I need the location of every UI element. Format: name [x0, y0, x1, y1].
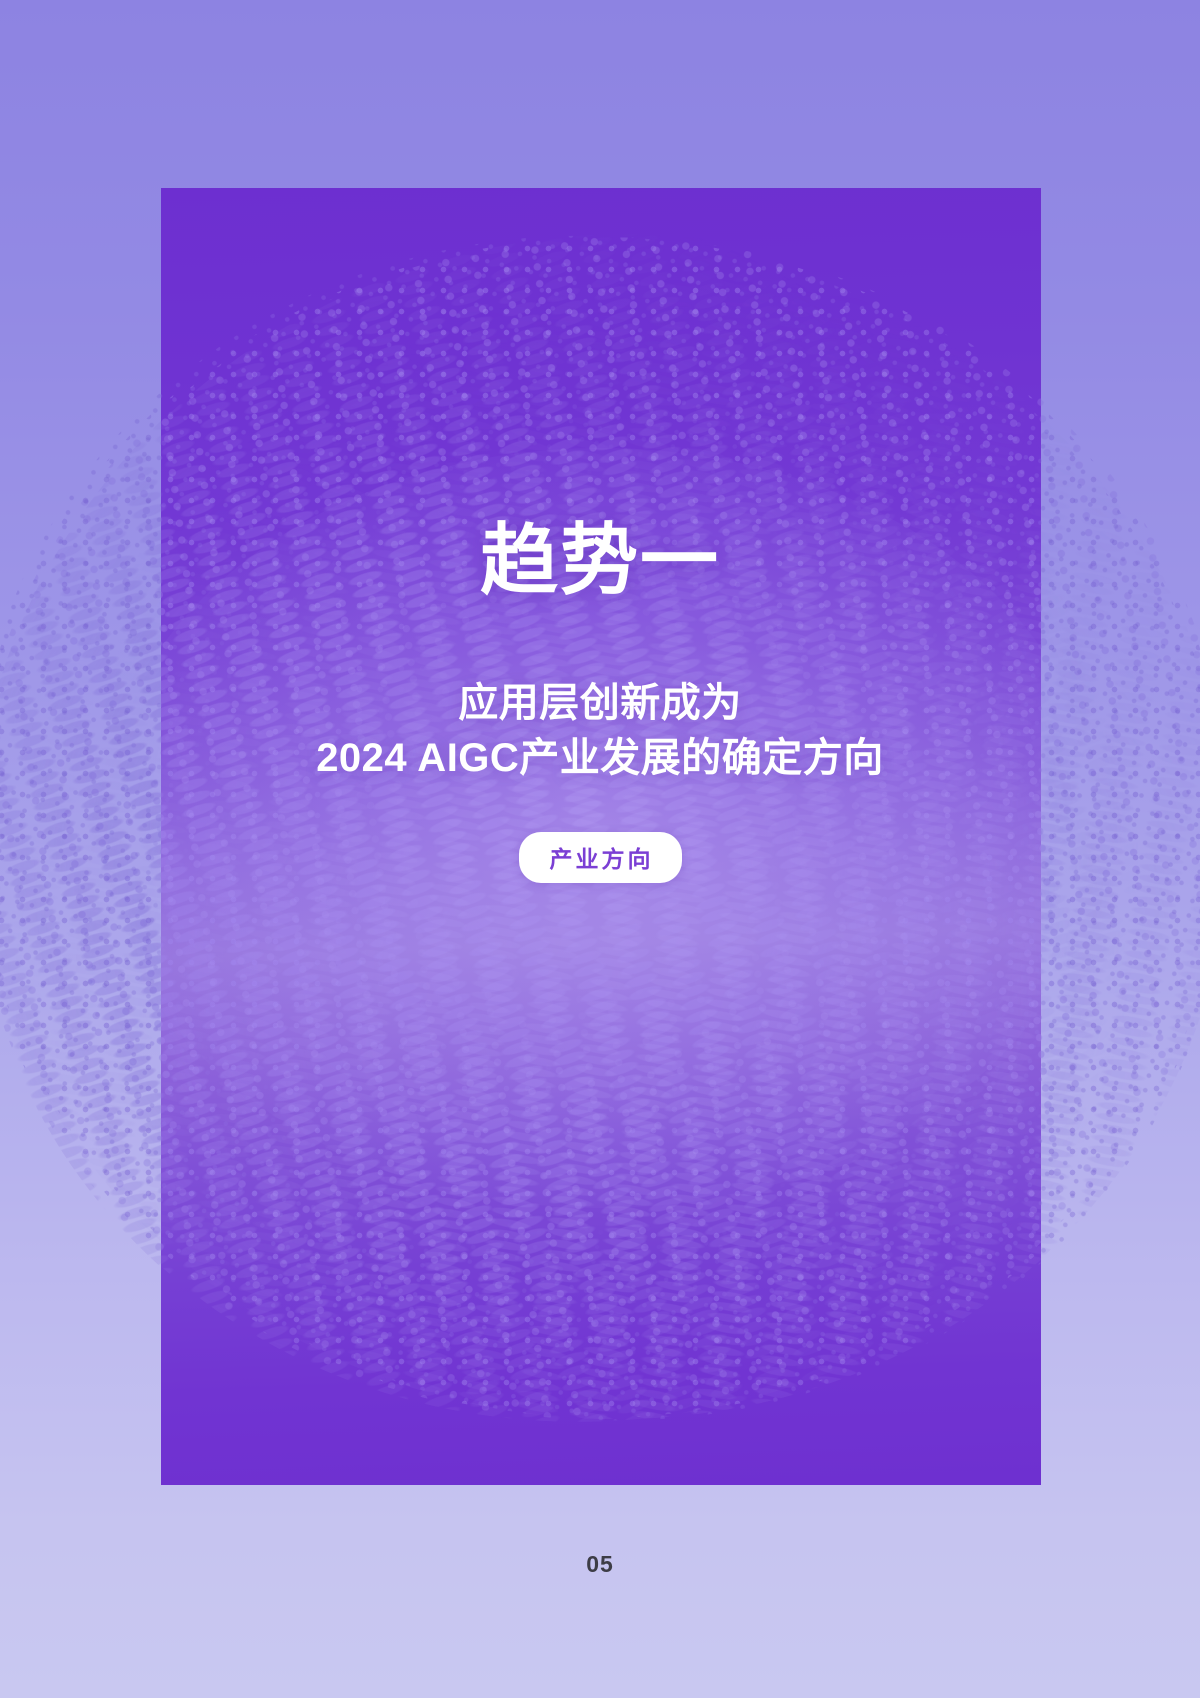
cover-content: 趋势一 应用层创新成为 2024 AIGC产业发展的确定方向 产业方向 [0, 520, 1200, 883]
slide-page: 趋势一 应用层创新成为 2024 AIGC产业发展的确定方向 产业方向 05 [0, 0, 1200, 1698]
subtitle-line-2: 2024 AIGC产业发展的确定方向 [0, 731, 1200, 786]
badge-row: 产业方向 [0, 832, 1200, 883]
cover-subtitle: 应用层创新成为 2024 AIGC产业发展的确定方向 [0, 676, 1200, 786]
trend-title: 趋势一 [0, 520, 1200, 602]
subtitle-line-1: 应用层创新成为 [0, 676, 1200, 731]
page-number: 05 [0, 1551, 1200, 1578]
category-badge: 产业方向 [519, 832, 682, 883]
